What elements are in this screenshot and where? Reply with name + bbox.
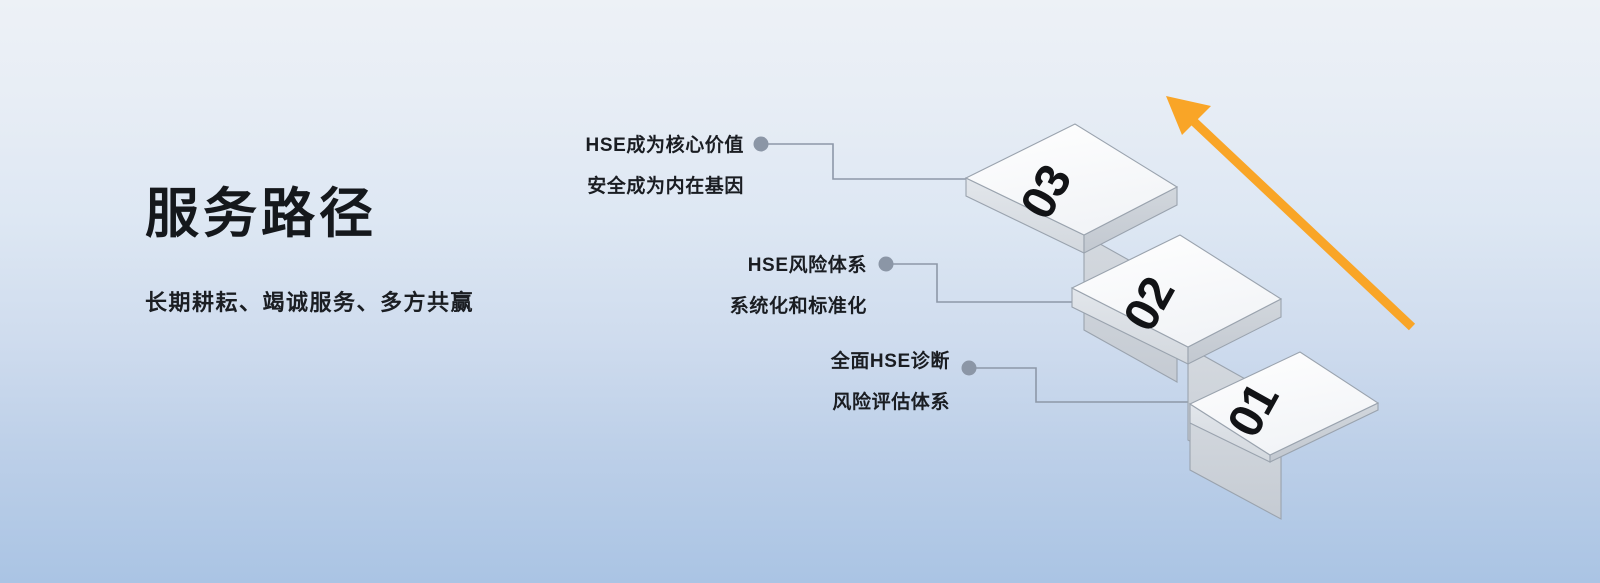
connector-dot-01 xyxy=(962,361,977,376)
step-caption-03-line1: HSE成为核心价值 xyxy=(586,136,744,155)
connector-03 xyxy=(754,137,969,180)
step-caption-02-line2: 系统化和标准化 xyxy=(730,297,867,316)
step-caption-01-line2: 风险评估体系 xyxy=(831,393,950,412)
step-block-03[interactable]: 03 xyxy=(966,124,1177,382)
step-caption-03-line2: 安全成为内在基因 xyxy=(586,177,744,196)
step-block-02[interactable]: 02 xyxy=(1072,235,1281,492)
step-block-01[interactable]: 01 xyxy=(1190,352,1378,519)
step-number-03: 03 xyxy=(1011,157,1082,228)
connector-02 xyxy=(879,257,1089,303)
slide-canvas: 服务路径 长期耕耘、竭诚服务、多方共赢 HSE成为核心价值 安全成为内在基因 H… xyxy=(0,0,1600,583)
heading-block: 服务路径 长期耕耘、竭诚服务、多方共赢 xyxy=(145,183,705,317)
step-caption-02-line1: HSE风险体系 xyxy=(730,256,867,275)
step-caption-03: HSE成为核心价值 安全成为内在基因 xyxy=(586,136,744,196)
connector-01 xyxy=(962,361,1193,403)
connector-dot-02 xyxy=(879,257,894,272)
step-caption-01-line1: 全面HSE诊断 xyxy=(831,352,950,371)
step-number-01: 01 xyxy=(1218,375,1289,446)
connector-dot-03 xyxy=(754,137,769,152)
growth-arrow-icon xyxy=(1166,96,1412,327)
step-caption-01: 全面HSE诊断 风险评估体系 xyxy=(831,352,950,412)
page-subtitle: 长期耕耘、竭诚服务、多方共赢 xyxy=(145,285,705,317)
step-caption-02: HSE风险体系 系统化和标准化 xyxy=(730,256,867,316)
step-number-02: 02 xyxy=(1114,269,1185,340)
